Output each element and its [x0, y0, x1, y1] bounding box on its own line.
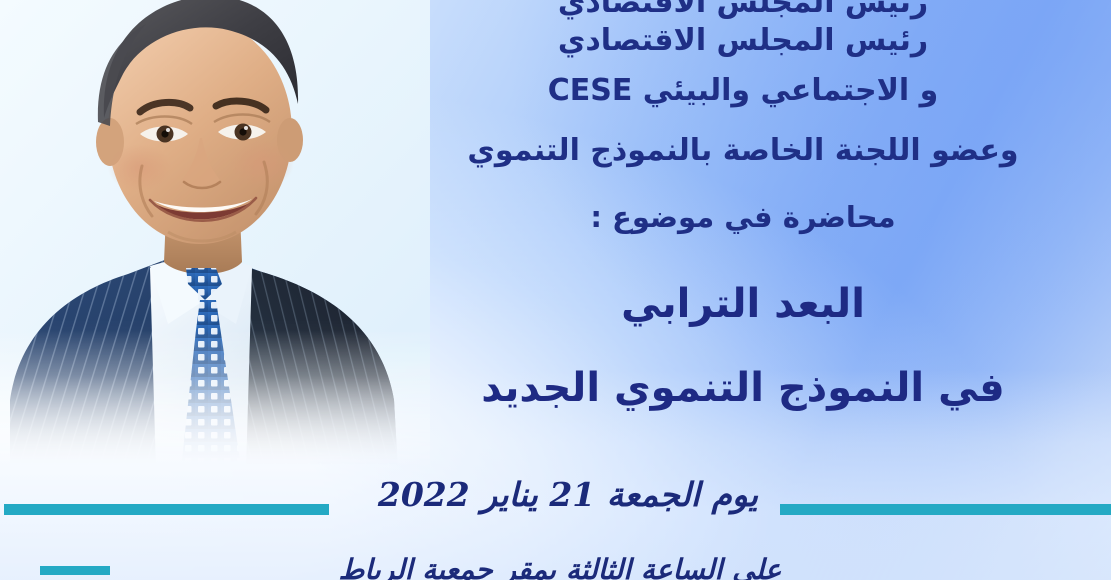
speaker-role-line-1: رئيس المجلس الاقتصادي: [393, 0, 1093, 18]
lecture-title-line-2: في النموذج التنموي الجديد: [393, 368, 1093, 408]
teal-rule-left: [4, 504, 329, 515]
event-date: يوم الجمعة 21 يناير 2022: [358, 475, 778, 514]
speaker-role-line-2: رئيس المجلس الاقتصادي: [393, 26, 1093, 56]
portrait-illustration: [0, 0, 430, 470]
speaker-role-line-3: و الاجتماعي والبيئي CESE: [393, 76, 1093, 106]
footer-partial-line-clip: على الساعة الثالثة بمقر جمعية الرباط: [250, 556, 870, 580]
teal-rule-right: [780, 504, 1111, 515]
lecture-label: محاضرة في موضوع :: [393, 203, 1093, 232]
speaker-role-line-4: وعضو اللجنة الخاصة بالنموذج التنموي: [393, 136, 1093, 166]
lecture-title-line-1: البعد الترابي: [393, 284, 1093, 324]
footer-partial-line: على الساعة الثالثة بمقر جمعية الرباط: [250, 556, 870, 580]
conference-poster: رئيس المجلس الاقتصادي رئيس المجلس الاقتص…: [0, 0, 1111, 580]
speaker-portrait: [0, 0, 430, 470]
teal-rule-footer: [40, 566, 110, 575]
